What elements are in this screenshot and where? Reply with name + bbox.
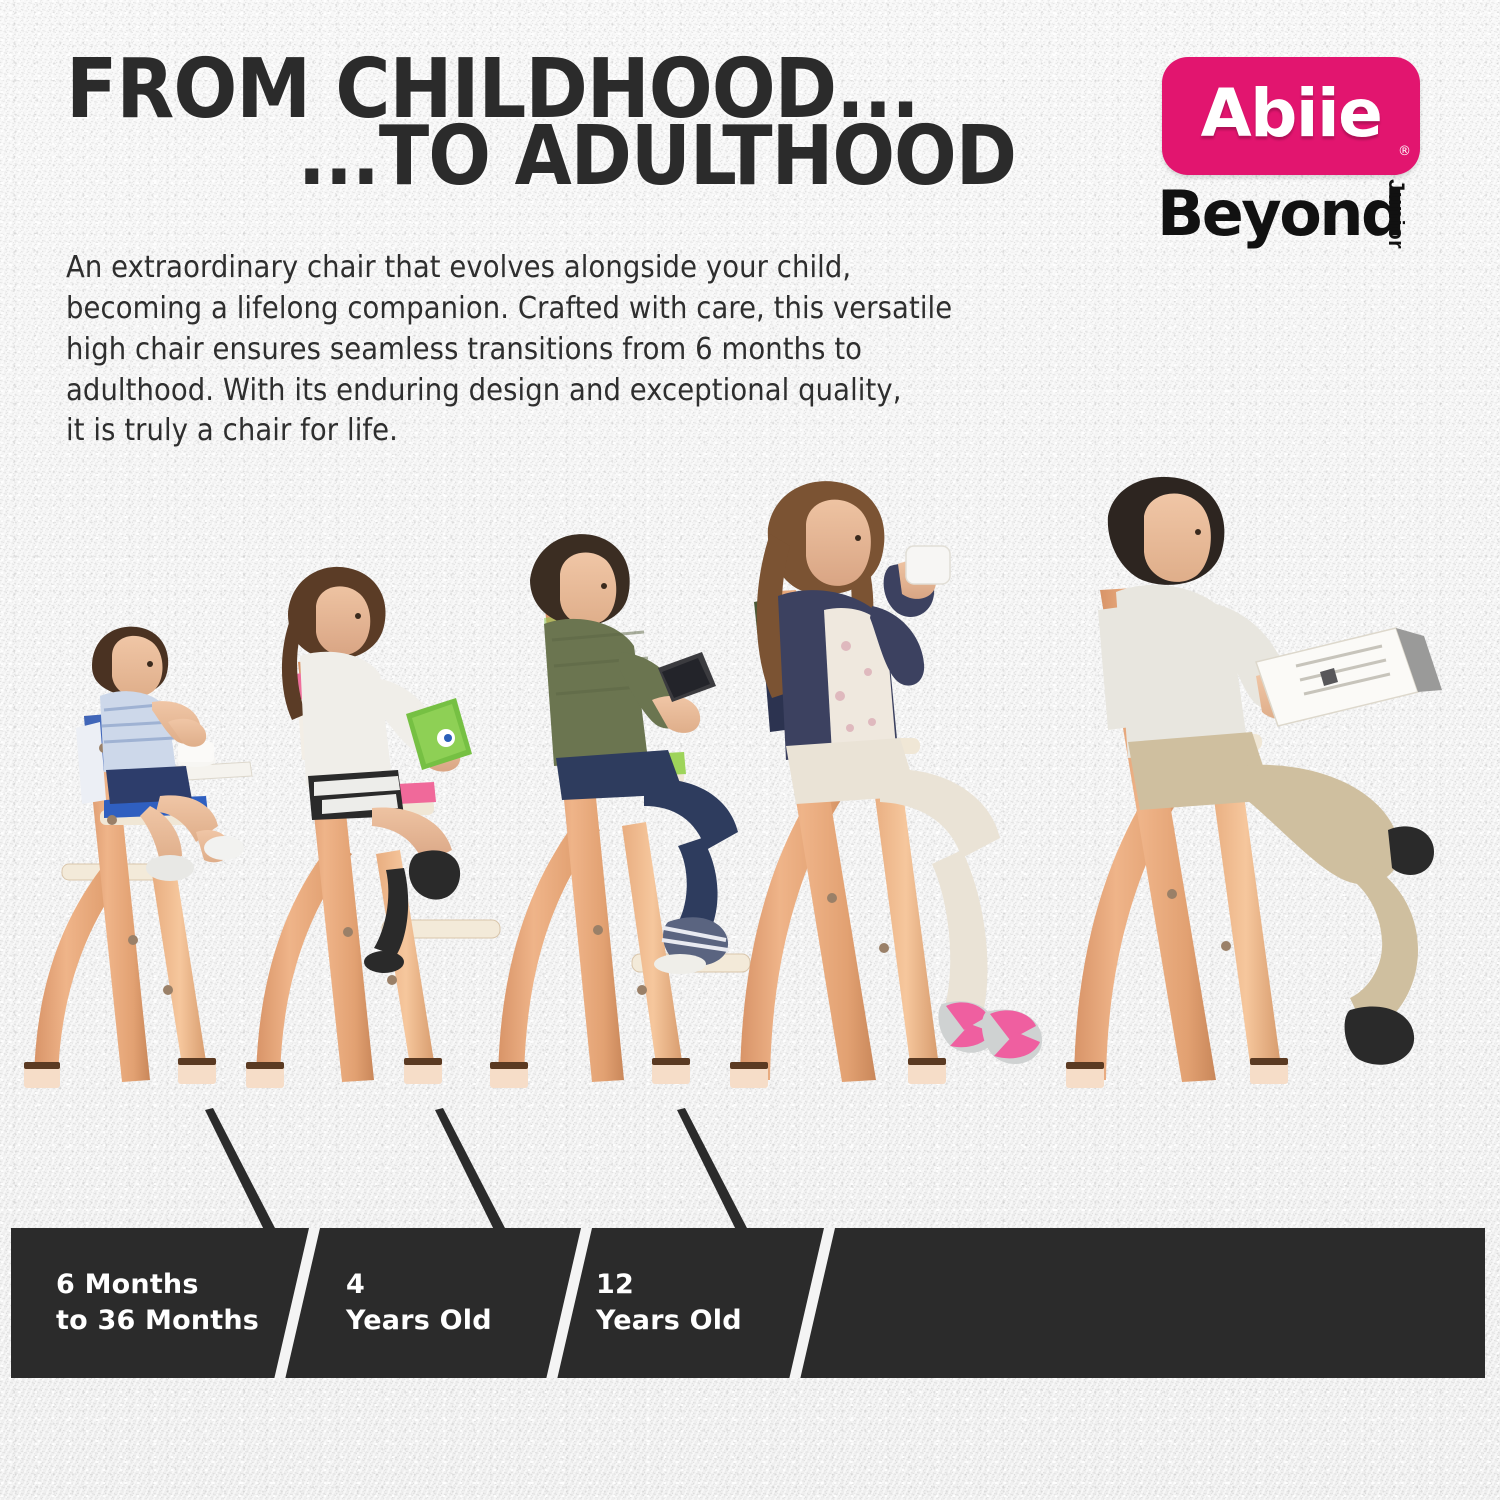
page-title: FROM CHILDHOOD... ...TO ADULTHOOD [66, 56, 1026, 190]
open-book [1256, 628, 1442, 726]
age-cell-1[interactable]: 4 Years Old [346, 1228, 566, 1378]
registered-trademark-icon: ® [1398, 144, 1411, 159]
chair-group-toddler [24, 627, 252, 1088]
age-label-1: 4 Years Old [346, 1267, 566, 1339]
brand-plate: Abiie ® [1162, 57, 1420, 175]
poster-canvas: FROM CHILDHOOD... ...TO ADULTHOOD An ext… [0, 0, 1500, 1500]
brand-wordmark: Abiie [1162, 57, 1420, 175]
headline-line-1: FROM CHILDHOOD... [66, 56, 1045, 123]
age-cell-0[interactable]: 6 Months to 36 Months [56, 1228, 306, 1378]
age-timeline-bar: 6 Months to 36 Months 4 Years Old 12 Yea… [11, 1228, 1485, 1378]
figure-man [1108, 477, 1442, 1065]
scene-illustration [0, 470, 1500, 1130]
age-cell-3[interactable] [891, 1228, 1291, 1378]
age-cell-2[interactable]: 12 Years Old [596, 1228, 816, 1378]
chair-group-girl [246, 567, 500, 1088]
chair-group-woman [730, 481, 1042, 1088]
product-name: Beyond [1157, 177, 1403, 250]
chair-group-man [1066, 477, 1442, 1088]
age-label-0: 6 Months to 36 Months [56, 1267, 306, 1339]
brand-logo: Abiie ® Beyond Junior [1157, 57, 1457, 272]
product-tier: Junior [1383, 179, 1409, 249]
age-label-2: 12 Years Old [596, 1267, 816, 1339]
intro-paragraph: An extraordinary chair that evolves alon… [66, 248, 1076, 452]
chair-progression-scene [0, 470, 1500, 1130]
chair-group-boy [490, 534, 750, 1088]
